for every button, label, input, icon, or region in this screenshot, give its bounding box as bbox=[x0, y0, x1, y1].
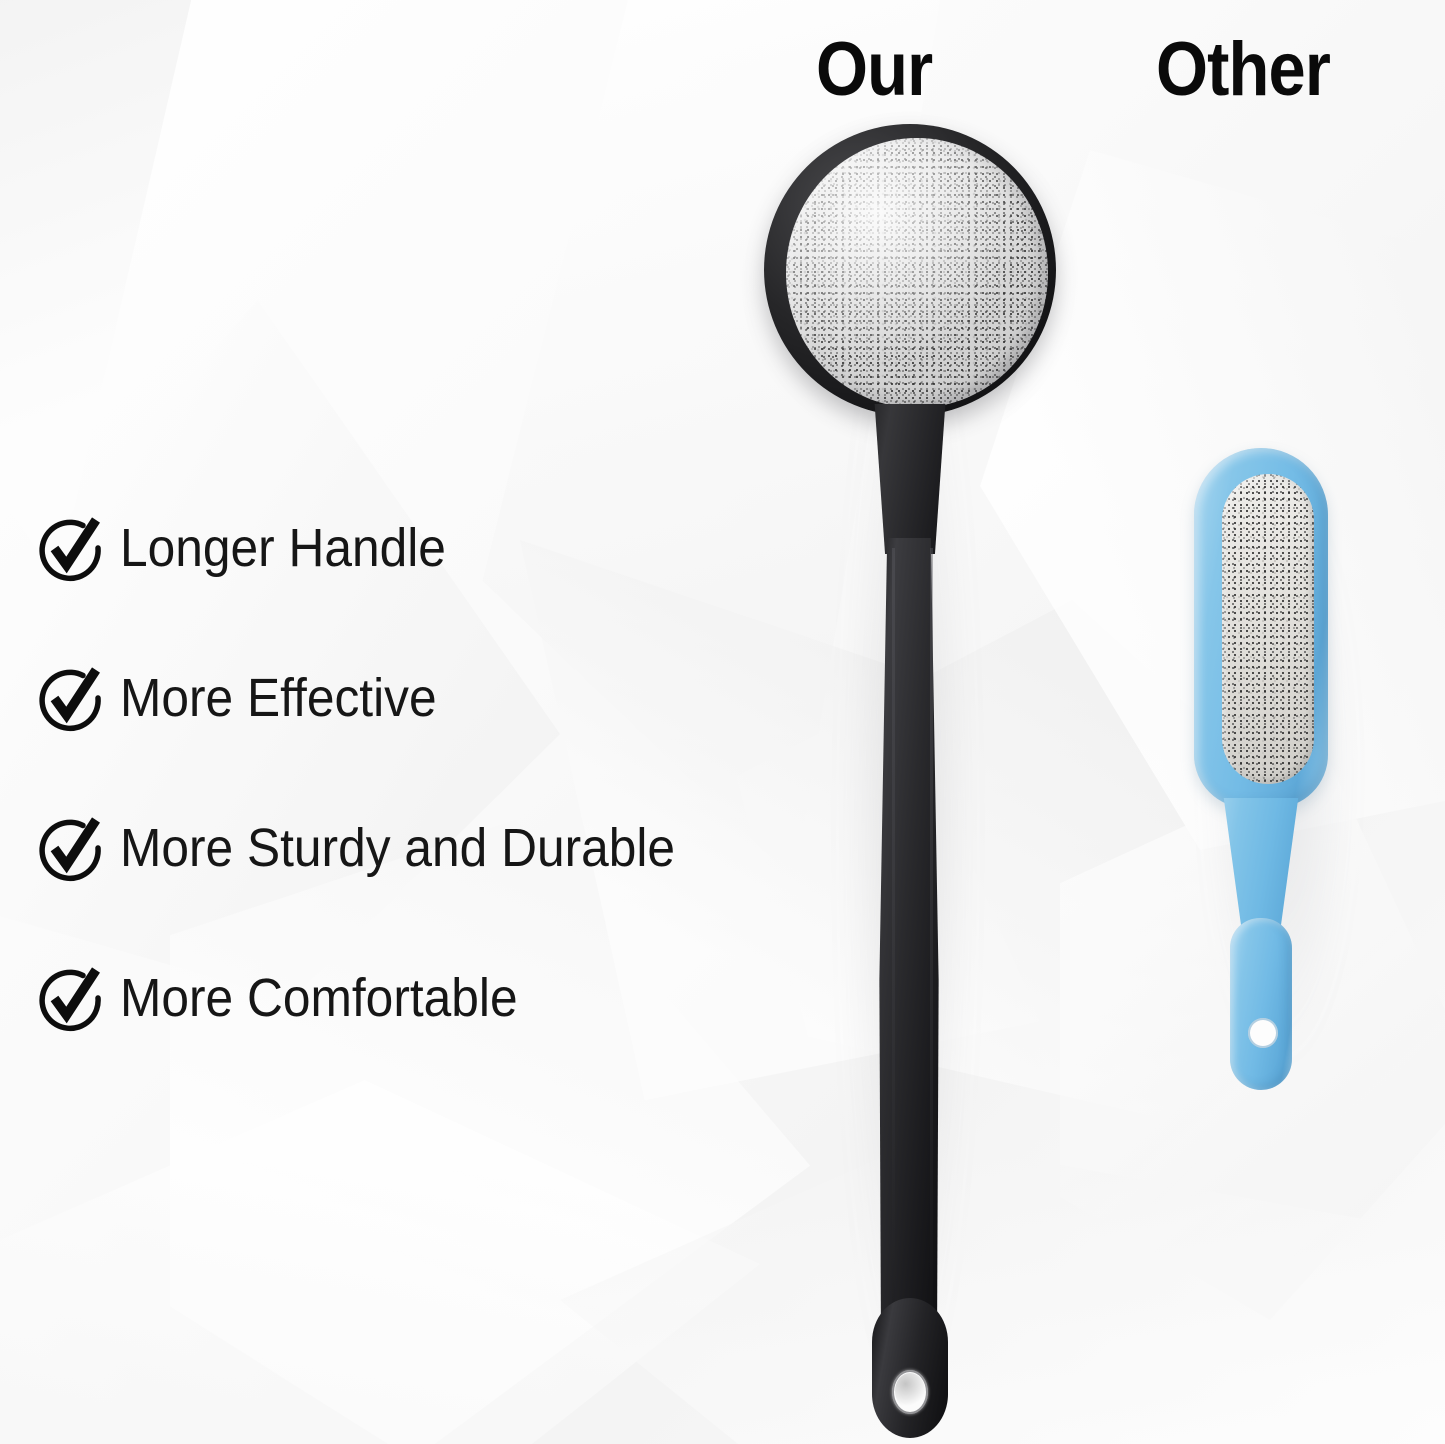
list-item: More Comfortable bbox=[34, 958, 794, 1038]
blue-file-head bbox=[1194, 448, 1328, 808]
feature-label: More Sturdy and Durable bbox=[120, 821, 675, 875]
blue-file-grip bbox=[1230, 918, 1292, 1090]
hanging-hole bbox=[1248, 1018, 1278, 1048]
circle-check-icon bbox=[34, 512, 106, 584]
circle-check-icon bbox=[34, 662, 106, 734]
list-item: Longer Handle bbox=[34, 508, 794, 588]
handle-ridge bbox=[892, 548, 895, 1338]
feature-list: Longer Handle More Effective More Sturdy… bbox=[34, 508, 794, 1108]
feature-label: More Comfortable bbox=[120, 971, 518, 1025]
column-header-our: Our bbox=[816, 32, 932, 108]
list-item: More Effective bbox=[34, 658, 794, 738]
feature-label: Longer Handle bbox=[120, 521, 446, 575]
our-product-image bbox=[740, 118, 1070, 1428]
pumice-stone-disc bbox=[786, 138, 1048, 408]
list-item: More Sturdy and Durable bbox=[34, 808, 794, 888]
handle-tip bbox=[872, 1298, 948, 1438]
feature-label: More Effective bbox=[120, 671, 437, 725]
circle-check-icon bbox=[34, 962, 106, 1034]
product-comparison-image: Our Other Longer Handle More Effective bbox=[0, 0, 1445, 1444]
pumice-head-ring bbox=[764, 124, 1056, 416]
handle-ridge bbox=[930, 548, 933, 1338]
circle-check-icon bbox=[34, 812, 106, 884]
hanging-hole-shading bbox=[895, 1373, 925, 1409]
other-product-image bbox=[1186, 448, 1376, 1088]
pumice-stone-pad bbox=[1222, 474, 1314, 784]
column-header-other: Other bbox=[1156, 32, 1330, 108]
